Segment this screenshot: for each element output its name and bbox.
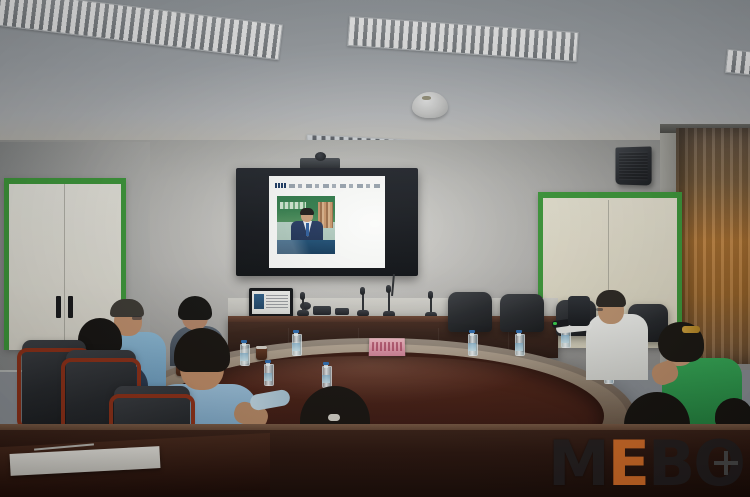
door-handle-icon[interactable] bbox=[68, 296, 73, 318]
watermark-letter-b: B bbox=[648, 427, 693, 497]
hair-clip-icon bbox=[682, 326, 700, 333]
slide-photo-podium bbox=[277, 240, 335, 254]
slide-photo-subject-tie bbox=[306, 223, 309, 236]
pink-name-card bbox=[369, 338, 406, 356]
slide-heading-mark bbox=[275, 183, 286, 188]
wall-mounted-display[interactable] bbox=[236, 168, 418, 276]
chair-back bbox=[448, 292, 492, 332]
slide-heading bbox=[275, 182, 380, 189]
av-control-unit[interactable] bbox=[313, 306, 331, 315]
presentation-slide bbox=[269, 176, 385, 268]
gooseneck-microphone[interactable] bbox=[362, 292, 364, 312]
water-bottle[interactable] bbox=[264, 360, 272, 386]
chair-back bbox=[500, 294, 544, 332]
water-bottle[interactable] bbox=[292, 330, 300, 356]
smoke-detector-icon bbox=[412, 92, 448, 118]
ceiling bbox=[0, 0, 750, 148]
speaker-grille bbox=[619, 152, 648, 181]
conference-room-photo: MEBO bbox=[0, 0, 750, 497]
microphone-head-icon bbox=[300, 292, 305, 300]
av-control-unit[interactable] bbox=[335, 308, 349, 315]
chair-back bbox=[568, 296, 590, 326]
remote-led-icon bbox=[553, 322, 557, 325]
glasses-icon bbox=[596, 308, 603, 311]
leather-conference-chair[interactable] bbox=[500, 294, 544, 332]
microphone-head-icon bbox=[386, 285, 391, 293]
watermark-letter-e: E bbox=[608, 427, 648, 497]
hair-clip-icon bbox=[328, 414, 340, 421]
door-handle-icon[interactable] bbox=[56, 296, 61, 318]
watermark-cross-icon bbox=[714, 451, 738, 475]
gooseneck-microphone[interactable] bbox=[388, 290, 390, 312]
watermark-letter-m: M bbox=[548, 427, 608, 497]
water-bottle[interactable] bbox=[515, 330, 523, 356]
wall-speaker-icon bbox=[615, 146, 651, 185]
microphone-head-icon bbox=[360, 287, 365, 295]
leather-conference-chair[interactable] bbox=[448, 292, 492, 332]
name-card-text bbox=[372, 342, 402, 351]
water-bottle[interactable] bbox=[322, 362, 330, 388]
slide-photo-subject-hair bbox=[300, 208, 314, 215]
microphone-head-icon bbox=[428, 291, 433, 299]
water-bottle[interactable] bbox=[468, 330, 476, 356]
tea-cup[interactable] bbox=[256, 346, 267, 360]
monitor-screen bbox=[252, 291, 290, 314]
slide-photo bbox=[277, 196, 335, 254]
slide-heading-text bbox=[289, 184, 380, 188]
